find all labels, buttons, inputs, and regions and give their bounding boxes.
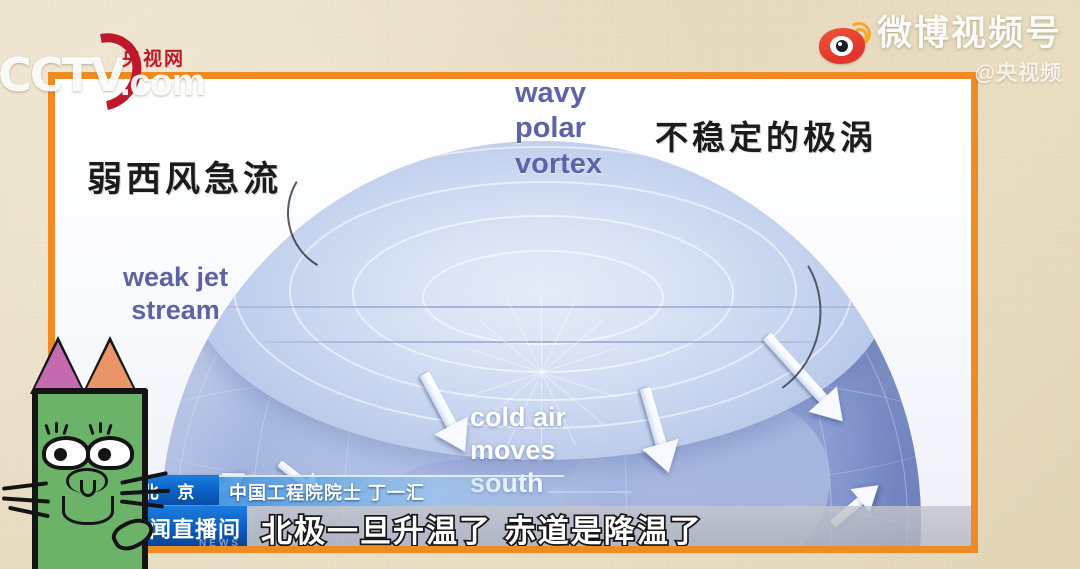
cctv-wordmark: CCTV xyxy=(0,48,125,102)
guest-title-bar: 中国工程院院士 丁一汇 xyxy=(219,475,564,507)
subtitle-text: 北极一旦升温了 赤道是降温了 xyxy=(247,506,703,547)
label-vortex-line2: polar xyxy=(515,111,602,146)
cat-mouth xyxy=(62,496,114,525)
video-frame: 弱西风急流 weak jet stream wavy polar vortex … xyxy=(48,72,978,553)
green-cat-sticker xyxy=(8,344,176,569)
screenshot-stage: 弱西风急流 weak jet stream wavy polar vortex … xyxy=(0,0,1080,569)
weibo-handle: @央视频 xyxy=(877,57,1062,87)
label-cold-air-line1: cold air xyxy=(470,401,566,434)
label-weak-jet-en-line2: stream xyxy=(123,294,228,327)
weather-diagram-image: 弱西风急流 weak jet stream wavy polar vortex … xyxy=(55,79,971,546)
label-vortex-line3: vortex xyxy=(515,147,602,182)
label-weak-jet-en-line1: weak jet xyxy=(123,261,228,294)
cctv-chinese-name: 央视网 xyxy=(122,44,185,71)
label-unstable-vortex-cn: 不稳定的极涡 xyxy=(655,111,877,159)
label-vortex-line1: wavy xyxy=(515,79,602,111)
weibo-watermark: 微博视频号 @央视频 xyxy=(819,16,1062,102)
program-tag-sub: NEWS xyxy=(199,538,241,546)
subtitle-band: 北极一旦升温了 赤道是降温了 xyxy=(247,506,971,546)
lower-third: 北 京 中国工程院院士 丁一汇 新闻直播间 NEWS 北极一旦升温了 赤道是降温… xyxy=(117,475,971,546)
cctv-watermark: CCTV .com 央视网 xyxy=(2,22,232,102)
weibo-eye-icon xyxy=(819,22,871,68)
weibo-channel-title: 微博视频号 xyxy=(877,16,1062,51)
label-cold-air-line2: moves xyxy=(470,434,566,467)
label-weak-jet-cn: 弱西风急流 xyxy=(87,151,282,202)
guest-title-text: 中国工程院院士 丁一汇 xyxy=(219,479,425,505)
label-weak-jet-en: weak jet stream xyxy=(123,261,228,327)
label-wavy-polar-vortex: wavy polar vortex xyxy=(515,79,602,182)
